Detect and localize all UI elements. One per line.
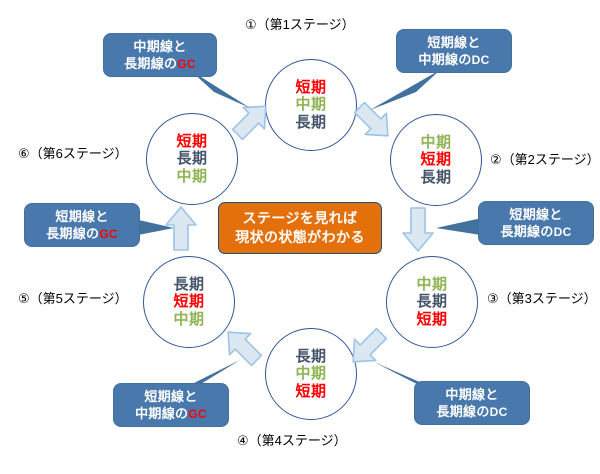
- stage-2-line-3: 長期: [420, 169, 451, 186]
- stage-circle-2[interactable]: 中期 短期 長期: [390, 114, 482, 206]
- stage-1-line-3: 長期: [295, 114, 326, 131]
- callout-3-line-2: 長期線のDC: [500, 223, 571, 241]
- callout-stage4-to-stage5[interactable]: 短期線と 中期線のGC: [113, 383, 229, 427]
- stage-5-line-3: 中期: [173, 311, 204, 328]
- dc-mark: DC: [472, 53, 490, 67]
- stage-6-line-2: 長期: [176, 150, 207, 167]
- center-message-box: ステージを見れば 現状の状態がわかる: [218, 202, 382, 254]
- callout-stage3-to-stage4[interactable]: 中期線と 長期線のDC: [414, 381, 530, 425]
- callout-1-line-2: 長期線のGC: [124, 55, 196, 73]
- callout-4-line-1: 中期線と: [445, 386, 498, 403]
- diagram-canvas: 短期 中期 長期 中期 短期 長期 中期 長期 短期 長期 中期 短期 長期 短…: [0, 0, 600, 474]
- callout-stage1-to-stage2[interactable]: 短期線と 中期線のDC: [396, 29, 512, 73]
- stage-3-line-1: 中期: [416, 276, 447, 293]
- stage-label-5: ⑤（第5ステージ）: [18, 288, 128, 307]
- stage-circle-3[interactable]: 中期 長期 短期: [386, 256, 478, 348]
- stage-circle-6[interactable]: 短期 長期 中期: [146, 113, 238, 205]
- callout-2-line-1: 短期線と: [427, 34, 480, 51]
- stage-1-line-2: 中期: [295, 96, 326, 113]
- center-message-line-2: 現状の状態がわかる: [235, 228, 365, 247]
- stage-5-line-2: 短期: [173, 293, 204, 310]
- stage-4-line-2: 中期: [295, 365, 326, 382]
- gc-mark: GC: [177, 57, 196, 71]
- callout-2-line-2: 中期線のDC: [418, 51, 489, 69]
- gc-mark: GC: [188, 407, 207, 421]
- callout-stage5-to-stage6[interactable]: 短期線と 長期線のGC: [24, 203, 140, 247]
- stage-1-line-1: 短期: [295, 79, 326, 96]
- stage-label-3: ③（第3ステージ）: [487, 288, 597, 307]
- callout-5-line-1: 短期線と: [144, 388, 197, 405]
- callout-1-line-1: 中期線と: [133, 38, 186, 55]
- stage-4-line-1: 長期: [295, 348, 326, 365]
- stage-6-line-1: 短期: [176, 133, 207, 150]
- callout-stage6-to-stage1[interactable]: 中期線と 長期線のGC: [103, 33, 217, 77]
- stage-5-line-1: 長期: [173, 276, 204, 293]
- callout-6-line-1: 短期線と: [55, 208, 108, 225]
- callout-5-line-2: 中期線のGC: [135, 405, 207, 423]
- callout-3-line-1: 短期線と: [509, 206, 562, 223]
- gc-mark: GC: [99, 227, 118, 241]
- stage-3-line-3: 短期: [416, 311, 447, 328]
- stage-label-4: ④（第4ステージ）: [237, 430, 347, 449]
- stage-6-line-3: 中期: [176, 168, 207, 185]
- stage-4-line-3: 短期: [295, 383, 326, 400]
- callout-6-line-2: 長期線のGC: [46, 225, 118, 243]
- dc-mark: DC: [554, 225, 572, 239]
- callout-4-line-2: 長期線のDC: [436, 403, 507, 421]
- stage-label-2: ②（第2ステージ）: [490, 149, 600, 168]
- stage-2-line-1: 中期: [420, 134, 451, 151]
- stage-label-6: ⑥（第6ステージ）: [18, 143, 128, 162]
- stage-2-line-2: 短期: [420, 151, 451, 168]
- stage-label-1: ①（第1ステージ）: [245, 14, 355, 33]
- dc-mark: DC: [490, 405, 508, 419]
- callout-stage2-to-stage3[interactable]: 短期線と 長期線のDC: [478, 201, 594, 245]
- stage-3-line-2: 長期: [416, 293, 447, 310]
- center-message-line-1: ステージを見れば: [243, 209, 358, 228]
